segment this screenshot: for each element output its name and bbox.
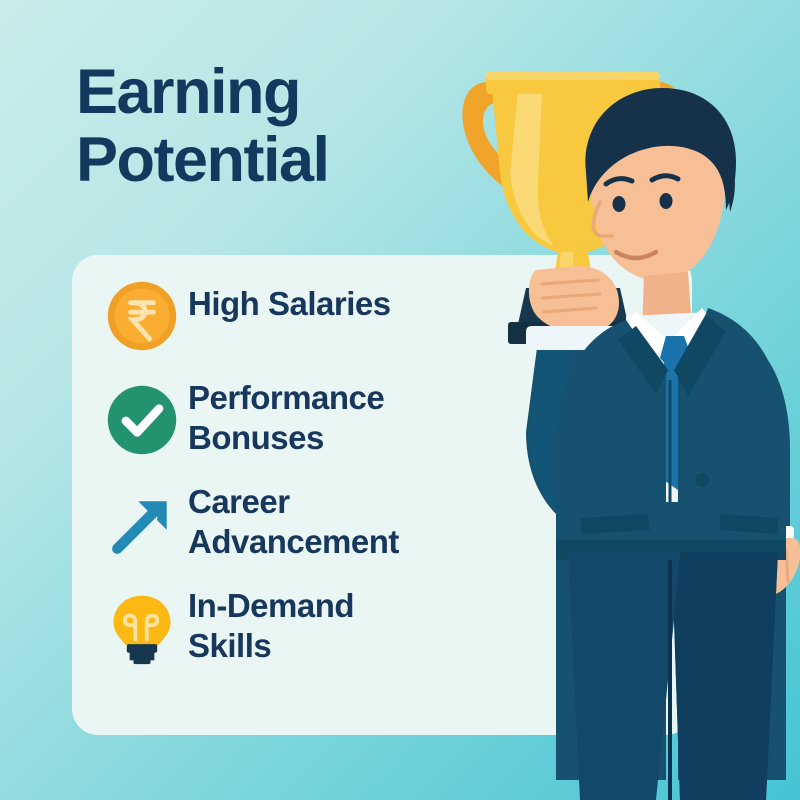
label-line: Advancement <box>188 523 399 560</box>
arrow-up-right-icon <box>96 480 188 568</box>
label-line: High Salaries <box>188 285 391 322</box>
list-item-label: Performance Bonuses <box>188 376 516 459</box>
list-item-label: In-Demand Skills <box>188 584 516 667</box>
label-line: Performance <box>188 379 384 416</box>
label-line: Career <box>188 483 290 520</box>
head <box>585 88 736 281</box>
page-title: Earning Potential <box>76 58 476 194</box>
list-item[interactable]: Career Advancement <box>96 480 516 568</box>
list-item[interactable]: In-Demand Skills <box>96 584 516 672</box>
list-item-label: High Salaries <box>188 272 516 324</box>
rupee-coin-icon <box>96 272 188 360</box>
list-item[interactable]: Performance Bonuses <box>96 376 516 464</box>
label-line: Bonuses <box>188 419 324 456</box>
label-line: In-Demand <box>188 587 354 624</box>
title-line-1: Earning <box>76 58 476 126</box>
lightbulb-icon <box>96 584 188 672</box>
list-item-label: Career Advancement <box>188 480 516 563</box>
list-item[interactable]: High Salaries <box>96 272 516 360</box>
check-circle-icon <box>96 376 188 464</box>
label-line: Skills <box>188 627 271 664</box>
infographic-canvas: Earning Potential High Salaries <box>0 0 800 800</box>
benefits-list: High Salaries Performance Bonuses <box>96 272 516 688</box>
title-line-2: Potential <box>76 126 476 194</box>
